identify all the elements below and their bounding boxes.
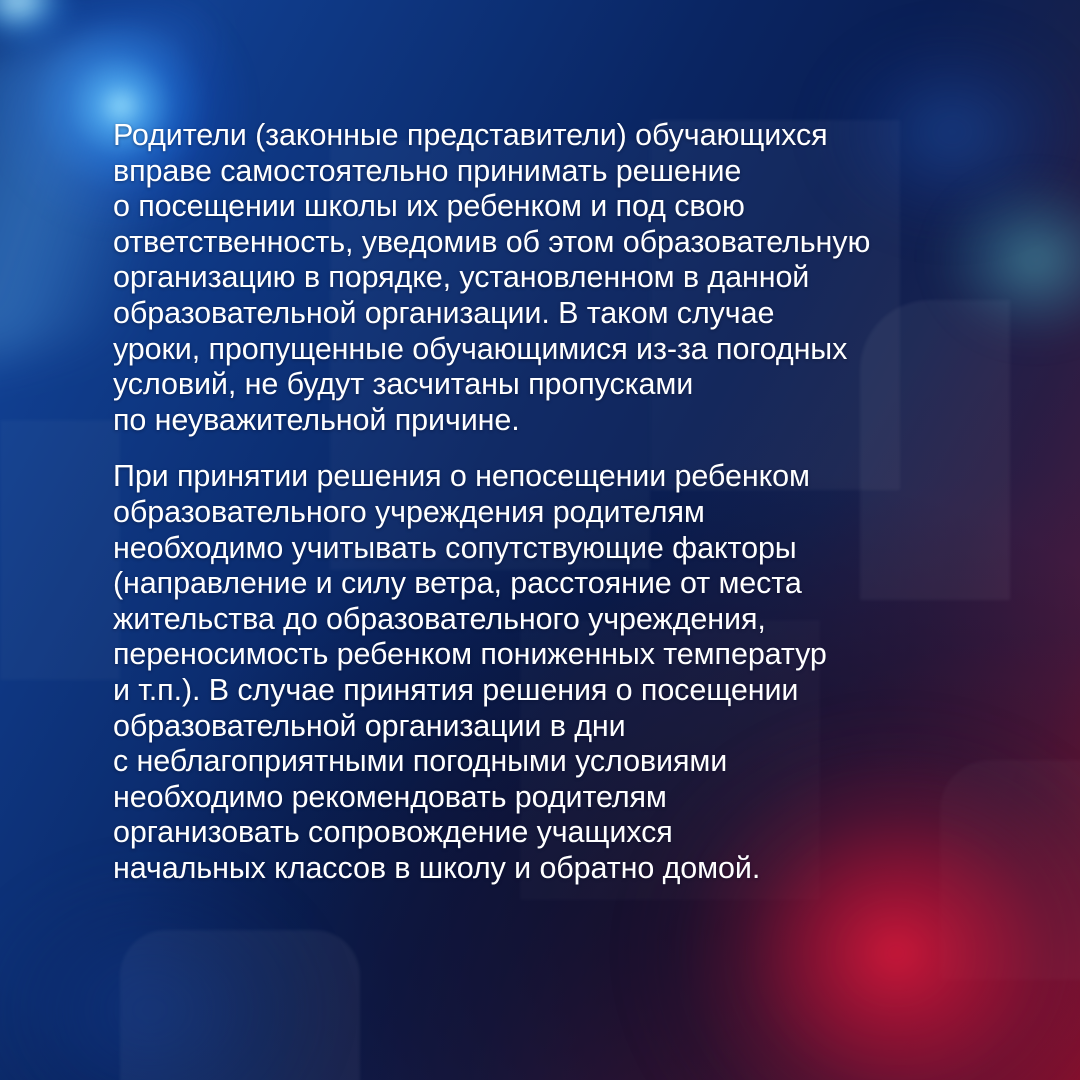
- footer: 80 ПОБЕДА! #Образование_52: [0, 930, 1080, 1080]
- body-copy: Родители (законные представители) обучаю…: [113, 118, 993, 886]
- paragraph-2: При принятии решения о непосещении ребен…: [113, 459, 993, 886]
- paragraph-1: Родители (законные представители) обучаю…: [113, 118, 993, 438]
- poster-content: Родители (законные представители) обучаю…: [0, 0, 1080, 1080]
- poster-canvas: Родители (законные представители) обучаю…: [0, 0, 1080, 1080]
